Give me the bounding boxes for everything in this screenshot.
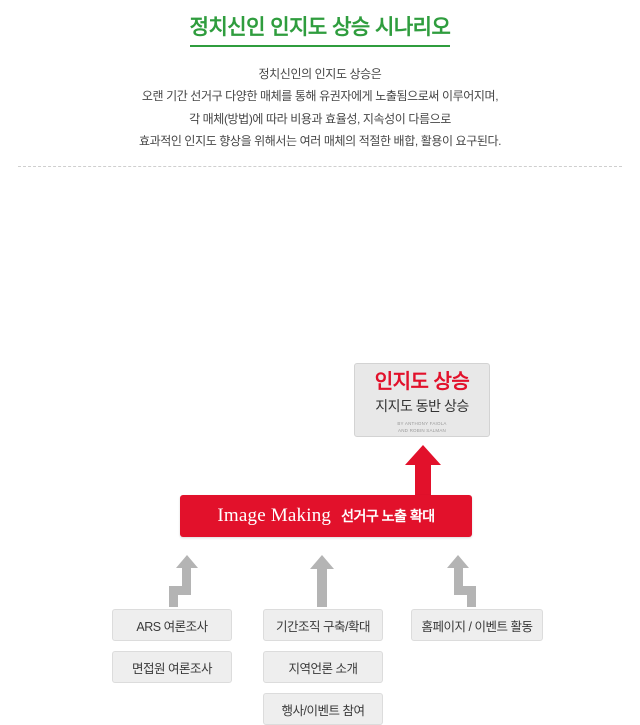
page-subtitle: 정치신인의 인지도 상승은 오랜 기간 선거구 다양한 매체를 통해 유권자에게… xyxy=(0,63,640,152)
up-arrow-icon-gray-right xyxy=(447,555,477,607)
up-arrow-icon-gray-center xyxy=(307,555,337,607)
result-credit: BY ANTHONY FAIOLA AND ROBIN SALMAN xyxy=(355,421,489,435)
list-item[interactable]: 지역언론 소개 xyxy=(263,651,383,683)
up-arrow-icon-red xyxy=(405,445,441,495)
result-subline: 지지도 동반 상승 xyxy=(355,396,489,416)
scenario-diagram: 인지도 상승 지지도 동반 상승 BY ANTHONY FAIOLA AND R… xyxy=(0,167,640,607)
subtitle-line-3: 각 매체(방법)에 따라 비용과 효율성, 지속성이 다름으로 xyxy=(0,108,640,130)
list-item[interactable]: 홈페이지 / 이벤트 활동 xyxy=(411,609,543,641)
subtitle-line-2: 오랜 기간 선거구 다양한 매체를 통해 유권자에게 노출됨으로써 이루어지며, xyxy=(0,85,640,107)
list-item[interactable]: 면접원 여론조사 xyxy=(112,651,232,683)
subtitle-line-4: 효과적인 인지도 향상을 위해서는 여러 매체의 적절한 배합, 활용이 요구된… xyxy=(0,130,640,152)
list-item[interactable]: 행사/이벤트 참여 xyxy=(263,693,383,725)
page-title: 정치신인 인지도 상승 시나리오 xyxy=(190,14,451,47)
subtitle-line-1: 정치신인의 인지도 상승은 xyxy=(0,63,640,85)
result-credit-line-1: BY ANTHONY FAIOLA xyxy=(355,421,489,428)
image-making-label-en: Image Making xyxy=(217,505,331,527)
up-arrow-icon-gray-left xyxy=(168,555,198,607)
result-headline: 인지도 상승 xyxy=(355,371,489,394)
list-item[interactable]: 기간조직 구축/확대 xyxy=(263,609,383,641)
result-credit-line-2: AND ROBIN SALMAN xyxy=(355,428,489,435)
result-box: 인지도 상승 지지도 동반 상승 BY ANTHONY FAIOLA AND R… xyxy=(354,363,490,437)
list-item[interactable]: ARS 여론조사 xyxy=(112,609,232,641)
page-header: 정치신인 인지도 상승 시나리오 정치신인의 인지도 상승은 오랜 기간 선거구… xyxy=(0,0,640,152)
image-making-bar: Image Making 선거구 노출 확대 xyxy=(180,495,472,537)
image-making-label-kr: 선거구 노출 확대 xyxy=(341,506,434,526)
